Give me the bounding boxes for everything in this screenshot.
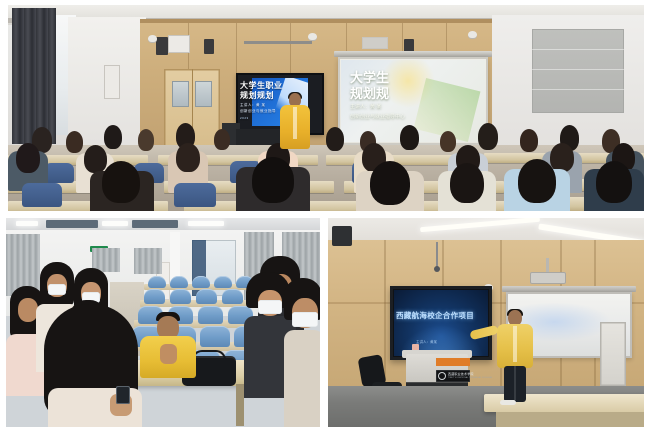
chair [44, 163, 74, 183]
audience-head [596, 161, 632, 203]
project-slide [394, 290, 488, 356]
interactive-flat-panel[interactable]: 西藏航海校企合作项目 主讲人：黄某 [390, 286, 492, 360]
photo-students-gathered-around-table [6, 218, 320, 427]
seat [192, 276, 210, 288]
photo-presenter-at-interactive-display: 西藏航海校企合作项目 主讲人：黄某 西藏职业技术学院 TIBET VOCATIO… [328, 218, 644, 427]
seat [148, 276, 166, 288]
seat [214, 276, 232, 288]
presenter-hands [160, 344, 177, 364]
audience-head [518, 159, 556, 203]
seat [170, 276, 188, 288]
ceiling-light [16, 221, 38, 226]
foreground-desk-lower [496, 412, 644, 427]
student-torso [284, 330, 320, 427]
face-mask [258, 300, 282, 314]
wall-box [104, 65, 120, 99]
window-curtain [134, 248, 162, 274]
ceiling-panel [46, 220, 98, 228]
table-leg [236, 384, 244, 426]
projected-line-3: 主讲人：黄 某 [350, 103, 381, 110]
seat [144, 289, 165, 304]
audience-head [478, 123, 498, 150]
audience-head [520, 129, 538, 152]
audience-head [104, 125, 122, 149]
presenter [280, 93, 310, 149]
chair [22, 183, 62, 207]
lectern-accent-stripe [436, 358, 470, 366]
audience-head [102, 161, 140, 203]
lectern-logo-subtext: TIBET VOCATIONAL TECHNICAL COLLEGE [448, 377, 492, 379]
wall-mounted-unit [168, 35, 190, 53]
projected-line-2: 规划规 [350, 83, 389, 102]
seat [170, 289, 191, 304]
speaker-icon [332, 226, 352, 246]
presenter [494, 310, 536, 406]
lectern-logo-text: 西藏职业技术学院 [448, 372, 474, 376]
audience-head [400, 125, 419, 150]
seat [198, 306, 223, 324]
student [284, 278, 320, 427]
photo-lecture-hall-full-audience: 大学生职业 规划规划 主讲人：黄 某 创新创业与就业指导 2023 大学生 规划… [8, 5, 644, 211]
audience-head [16, 143, 40, 173]
ceiling-light [102, 221, 128, 226]
seat [200, 326, 230, 347]
window-curtain [12, 8, 56, 144]
chair [174, 183, 216, 207]
camera-icon [148, 35, 157, 42]
acoustic-panel [532, 29, 624, 113]
smartphone[interactable] [116, 386, 130, 404]
slide-subtitle: 主讲人：黄某 [416, 340, 437, 345]
seat [222, 289, 243, 304]
slide-line-5: 2023 [240, 116, 249, 120]
ceiling-light [188, 221, 224, 226]
side-door[interactable] [600, 322, 626, 386]
university-crest-icon [438, 372, 446, 380]
slide-line-3: 主讲人：黄 某 [240, 103, 265, 108]
slide-line-2: 规划规划 [240, 90, 274, 101]
lectern-logo-plate: 西藏职业技术学院 TIBET VOCATIONAL TECHNICAL COLL… [436, 370, 470, 382]
face-mask [292, 312, 318, 327]
audience-head [450, 163, 484, 203]
audience-head [214, 129, 230, 150]
camera-icon [468, 31, 477, 38]
ceiling-microphone [436, 242, 438, 268]
speaker-icon [156, 37, 168, 55]
seated-presenter [140, 314, 196, 376]
camera-icon [308, 33, 317, 40]
audience-head [66, 131, 83, 153]
presenter-trousers [504, 366, 526, 402]
seat [196, 289, 217, 304]
projected-line-4: 创新创业与就业指导中心 [350, 113, 405, 120]
audience-head [550, 143, 574, 172]
ceiling-rail [244, 41, 312, 44]
speaker-icon [204, 39, 214, 54]
student-foreground [44, 304, 142, 427]
projector [530, 272, 566, 284]
ceiling-panel [132, 220, 178, 228]
audience-head [370, 161, 410, 205]
audience-head [138, 129, 154, 151]
audience-head [326, 127, 344, 151]
slide-line-4: 创新创业与就业指导 [240, 109, 276, 114]
audience-head [176, 143, 200, 172]
projector [362, 37, 388, 49]
audience-head [252, 157, 294, 203]
presenter-yellow-jacket [280, 105, 310, 149]
student-face [18, 298, 38, 322]
slide-title: 西藏航海校企合作项目 [396, 310, 488, 321]
photo-collage: 大学生职业 规划规划 主讲人：黄 某 创新创业与就业指导 2023 大学生 规划… [0, 0, 650, 433]
face-mask [48, 284, 66, 295]
audience-head [84, 145, 107, 173]
audience-head [440, 131, 456, 152]
presenter-shoe [500, 400, 516, 405]
presenter-yellow-jacket [497, 324, 533, 368]
